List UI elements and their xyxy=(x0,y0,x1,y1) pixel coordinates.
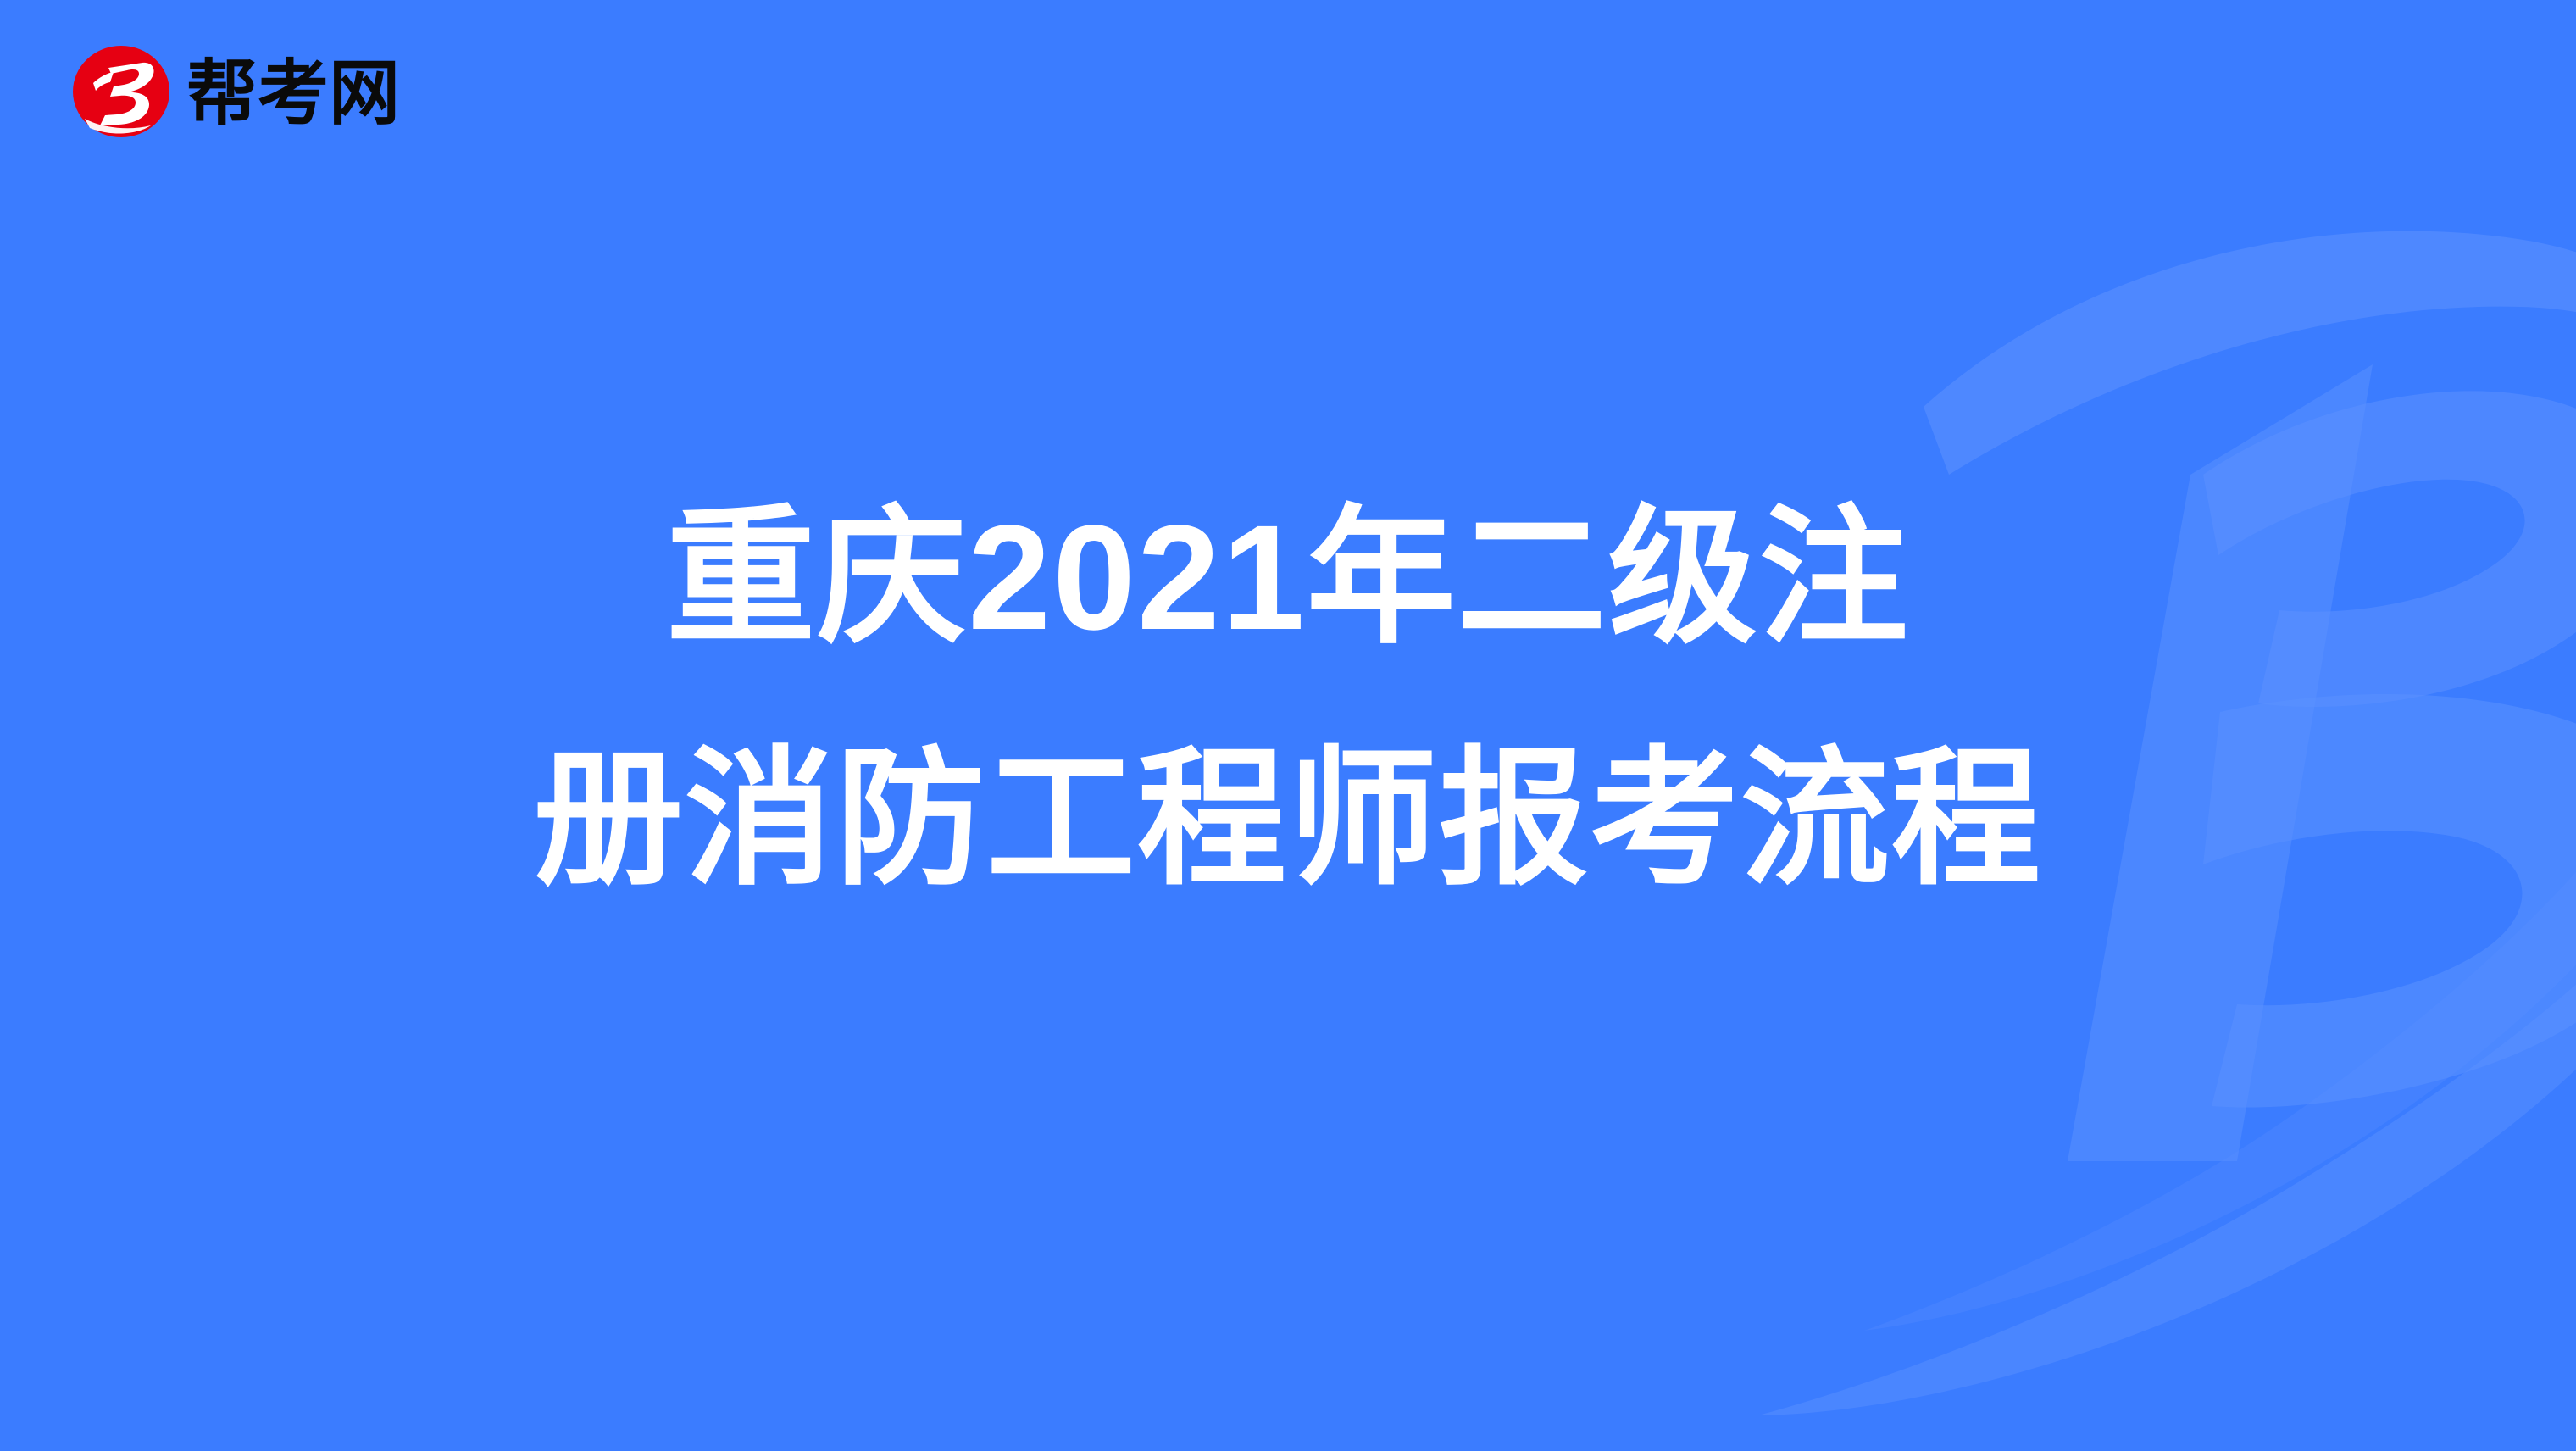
page-title-line-2: 册消防工程师报考流程 xyxy=(0,699,2576,941)
page-title-line-1: 重庆2021年二级注 xyxy=(0,458,2576,699)
bangkao-b-logo-icon xyxy=(71,44,171,139)
page-title: 重庆2021年二级注 册消防工程师报考流程 xyxy=(0,458,2576,941)
brand-wordmark: 帮考网 xyxy=(186,58,400,129)
brand-logo: 帮考网 xyxy=(71,44,400,139)
promo-banner: 帮考网 重庆2021年二级注 册消防工程师报考流程 xyxy=(0,0,2576,1451)
watermark-top-arc xyxy=(1924,231,2576,475)
